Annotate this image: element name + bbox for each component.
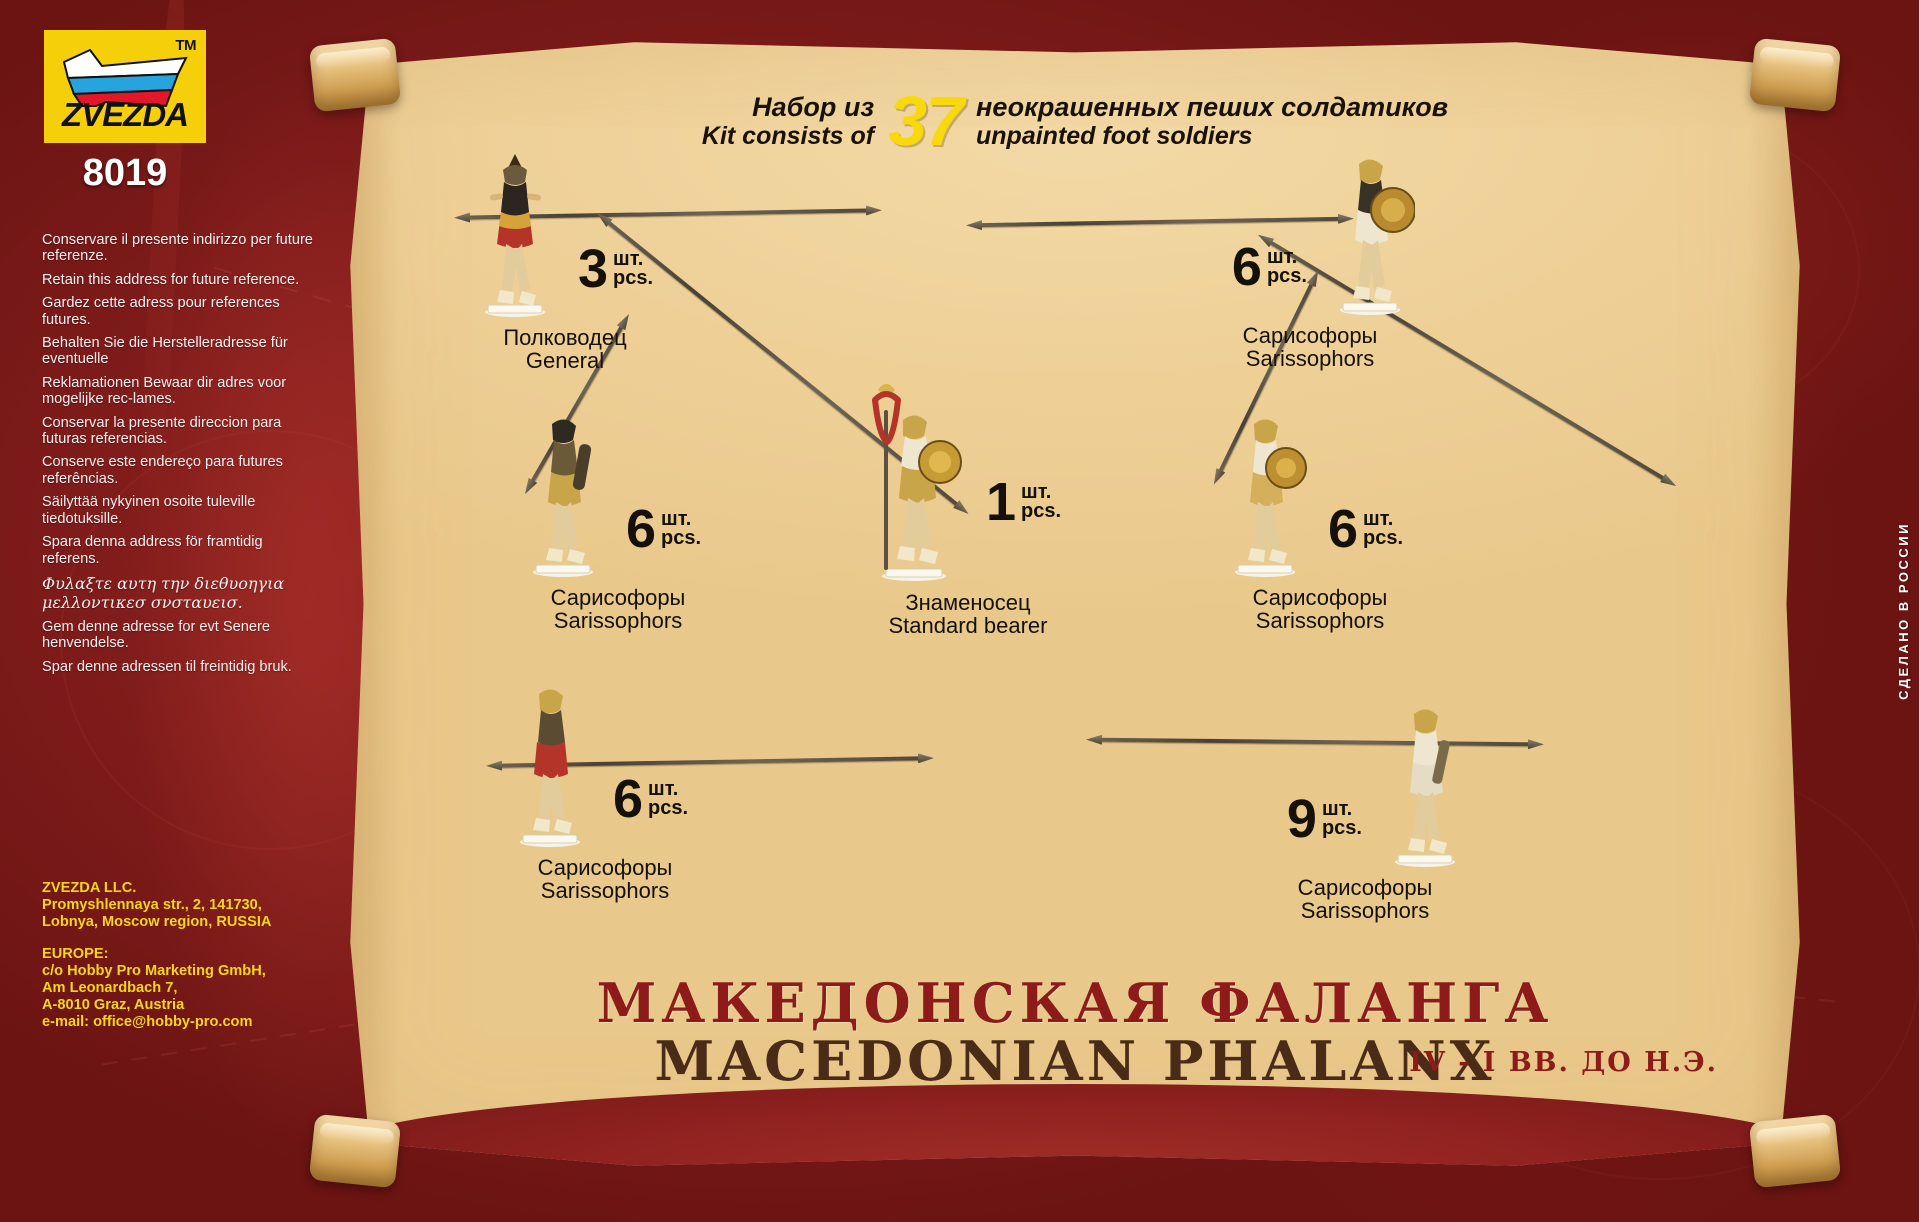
address-europe-2: Am Leonardbach 7, <box>42 980 322 997</box>
zvezda-wordmark: ZVEZDA <box>44 96 206 134</box>
notice-es: Conservar la presente direccion para fut… <box>42 415 314 448</box>
general-name-en: General <box>470 349 660 372</box>
sarissophors-1-count: 6 шт. pcs. <box>1232 244 1307 290</box>
sarissophors-1-caption: Сарисофоры Sarissophors <box>1205 324 1415 370</box>
standard-bearer-name-ru: Знаменосец <box>848 591 1088 614</box>
figure-standard-bearer: 1 шт. pcs. Знаменосец Standard bearer <box>848 370 1088 637</box>
sarissophors-4-caption: Сарисофоры Sarissophors <box>505 856 705 902</box>
kit-header-right: неокрашенных пеших солдатиков unpainted … <box>962 92 1448 151</box>
sarissophors-5-name-ru: Сарисофоры <box>1260 876 1470 899</box>
notice-nl: Reklamationen Bewaar dir adres voor moge… <box>42 375 314 408</box>
scroll-curl-bottom-right <box>1749 1114 1841 1189</box>
sarissophors-4-count: 6 шт. pcs. <box>613 776 688 822</box>
address-europe-1: c/o Hobby Pro Marketing GmbH, <box>42 963 322 980</box>
notice-de: Behalten Sie die Herstelleradresse für e… <box>42 335 314 368</box>
address-europe-label: EUROPE: <box>42 946 322 963</box>
bottom-red-ribbon <box>340 1084 1810 1168</box>
made-in-russia-label: СДЕЛАНО В РОССИИ <box>1896 522 1911 700</box>
notice-it: Conservare il presente indirizzo per fut… <box>42 232 314 265</box>
standard-bearer-name-en: Standard bearer <box>848 614 1088 637</box>
kit-total-count: 37 <box>888 88 962 154</box>
units-en: pcs. <box>1363 529 1403 548</box>
sarissophors-3-name-en: Sarissophors <box>1220 609 1420 632</box>
notice-da: Gem denne adresse for evt Senere henvend… <box>42 619 314 652</box>
notice-en: Retain this address for future reference… <box>42 272 314 288</box>
general-count: 3 шт. pcs. <box>578 246 653 292</box>
standard-bearer-count: 1 шт. pcs. <box>986 479 1061 525</box>
sarissophor-miniature-icon <box>518 410 608 580</box>
kit-header-left: Набор из Kit consists of <box>702 92 888 151</box>
figure-sarissophors-1: 6 шт. pcs. Сарисофоры Sarissophors <box>1205 148 1415 370</box>
standard-bearer-miniature-icon <box>848 370 968 585</box>
parchment-scroll: Набор из Kit consists of 37 неокрашенных… <box>300 18 1850 1208</box>
sarissophor-miniature-icon <box>1380 700 1470 870</box>
notice-fi: Säilyttää nykyinen osoite tuleville tied… <box>42 494 314 527</box>
address-company: ZVEZDA LLC. <box>42 880 322 897</box>
sarissophors-4-name-ru: Сарисофоры <box>505 856 705 879</box>
multilingual-notices: Conservare il presente indirizzo per fut… <box>42 232 314 682</box>
units-en: pcs. <box>1267 267 1307 286</box>
sarissophors-3-count: 6 шт. pcs. <box>1328 506 1403 552</box>
parchment-surface: Набор из Kit consists of 37 неокрашенных… <box>340 40 1810 1168</box>
kit-header-en-prefix: Kit consists of <box>702 122 874 151</box>
package-back-artwork: TM ZVEZDA 8019 Conservare il presente in… <box>0 0 1919 1222</box>
figure-sarissophors-4: 6 шт. pcs. Сарисофоры Sarissophors <box>505 680 705 902</box>
units-en: pcs. <box>1021 502 1061 521</box>
standard-bearer-caption: Знаменосец Standard bearer <box>848 591 1088 637</box>
notice-no: Spar denne adressen til freintidig bruk. <box>42 659 314 675</box>
sarissophors-1-name-en: Sarissophors <box>1205 347 1415 370</box>
units-en: pcs. <box>1322 819 1362 838</box>
notice-sv: Spara denna address för framtidig refere… <box>42 534 314 567</box>
figure-sarissophors-5: 9 шт. pcs. Сарисофоры Sarissophors <box>1260 700 1470 922</box>
sarissophor-miniature-icon <box>1220 410 1310 580</box>
kit-number: 8019 <box>44 152 206 195</box>
notice-fr: Gardez cette adress pour references futu… <box>42 295 314 328</box>
manufacturer-address: ZVEZDA LLC. Promyshlennaya str., 2, 1417… <box>42 880 322 1031</box>
zvezda-logo: TM ZVEZDA <box>44 30 206 143</box>
kit-header-en-suffix: unpainted foot soldiers <box>976 122 1448 151</box>
kit-contents-header: Набор из Kit consists of 37 неокрашенных… <box>340 88 1810 154</box>
sarissophor-miniature-icon <box>505 680 595 850</box>
general-name-ru: Полководец <box>470 326 660 349</box>
figure-sarissophors-3: 6 шт. pcs. Сарисофоры Sarissophors <box>1220 410 1420 632</box>
address-city: Lobnya, Moscow region, RUSSIA <box>42 914 322 931</box>
sarissophors-5-name-en: Sarissophors <box>1260 899 1470 922</box>
left-info-panel: TM ZVEZDA 8019 Conservare il presente in… <box>0 0 330 1222</box>
product-title-block: МАКЕДОНСКАЯ ФАЛАНГА MACEDONIAN PHALANX I… <box>340 974 1810 1090</box>
product-title-ru: МАКЕДОНСКАЯ ФАЛАНГА <box>340 974 1810 1032</box>
sarissophors-2-count: 6 шт. pcs. <box>626 506 701 552</box>
general-miniature-icon <box>470 150 560 320</box>
scroll-curl-top-right <box>1749 38 1841 113</box>
sarissophors-2-caption: Сарисофоры Sarissophors <box>518 586 718 632</box>
product-era-label: IV - I ВВ. ДО Н.Э. <box>1409 1047 1718 1078</box>
general-caption: Полководец General <box>470 326 660 372</box>
notice-el: Φυλαξτε αυτη την διεθυοηγια μελλοντικεσ … <box>42 574 314 612</box>
sarissophors-3-name-ru: Сарисофоры <box>1220 586 1420 609</box>
notice-pt: Conserve este endereço para futures refe… <box>42 454 314 487</box>
kit-header-ru-prefix: Набор из <box>702 92 874 122</box>
address-email[interactable]: e-mail: office@hobby-pro.com <box>42 1014 322 1031</box>
sarissophors-3-caption: Сарисофоры Sarissophors <box>1220 586 1420 632</box>
sarissophors-1-name-ru: Сарисофоры <box>1205 324 1415 347</box>
units-en: pcs. <box>648 799 688 818</box>
kit-header-ru-suffix: неокрашенных пеших солдатиков <box>976 92 1448 122</box>
sarissophors-5-count: 9 шт. pcs. <box>1287 796 1362 842</box>
figure-sarissophors-2: 6 шт. pcs. Сарисофоры Sarissophors <box>518 410 718 632</box>
sarissophor-miniature-icon <box>1325 148 1415 318</box>
sarissophors-2-name-en: Sarissophors <box>518 609 718 632</box>
units-en: pcs. <box>613 269 653 288</box>
units-en: pcs. <box>661 529 701 548</box>
sarissophors-5-caption: Сарисофоры Sarissophors <box>1260 876 1470 922</box>
address-street: Promyshlennaya str., 2, 141730, <box>42 897 322 914</box>
sarissophors-4-name-en: Sarissophors <box>505 879 705 902</box>
sarissophors-2-name-ru: Сарисофоры <box>518 586 718 609</box>
address-europe-3: A-8010 Graz, Austria <box>42 997 322 1014</box>
figure-general: 3 шт. pcs. Полководец General <box>470 150 660 372</box>
